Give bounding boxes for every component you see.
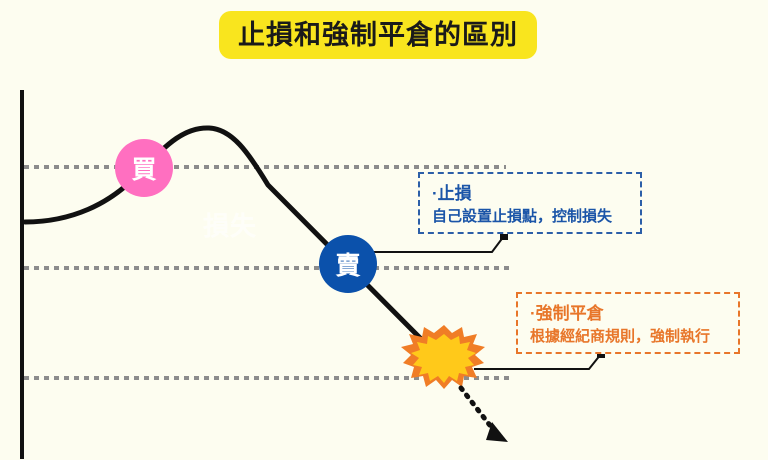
callout-stop-loss: ·止損 自己設置止損點，控制損失	[418, 172, 642, 234]
infographic-canvas: 止損和強制平倉的區別 損失 買 賣 ·止損 自己設置止損點，控制損失 ·強制平倉…	[0, 0, 768, 460]
price-curve	[25, 128, 437, 355]
liquidation-leader-line	[474, 354, 601, 369]
page-title: 止損和強制平倉的區別	[219, 11, 537, 59]
sell-marker[interactable]: 賣	[319, 235, 377, 293]
stoploss-leader-line	[374, 236, 504, 252]
callout-forced-liquidation-heading: ·強制平倉	[530, 303, 726, 324]
chart-svg	[0, 0, 768, 460]
downtrend-dotted-arrow-shaft	[461, 388, 492, 428]
callout-stop-loss-body: 自己設置止損點，控制損失	[432, 207, 628, 227]
callout-forced-liquidation-body: 根據經紀商規則，強制執行	[530, 327, 726, 347]
callout-stop-loss-heading: ·止損	[432, 183, 628, 204]
page-title-text: 止損和強制平倉的區別	[238, 22, 518, 49]
buy-marker-label: 買	[131, 150, 156, 186]
buy-marker[interactable]: 買	[115, 139, 173, 197]
sell-marker-label: 賣	[335, 246, 360, 282]
callout-forced-liquidation: ·強制平倉 根據經紀商規則，強制執行	[516, 292, 740, 354]
